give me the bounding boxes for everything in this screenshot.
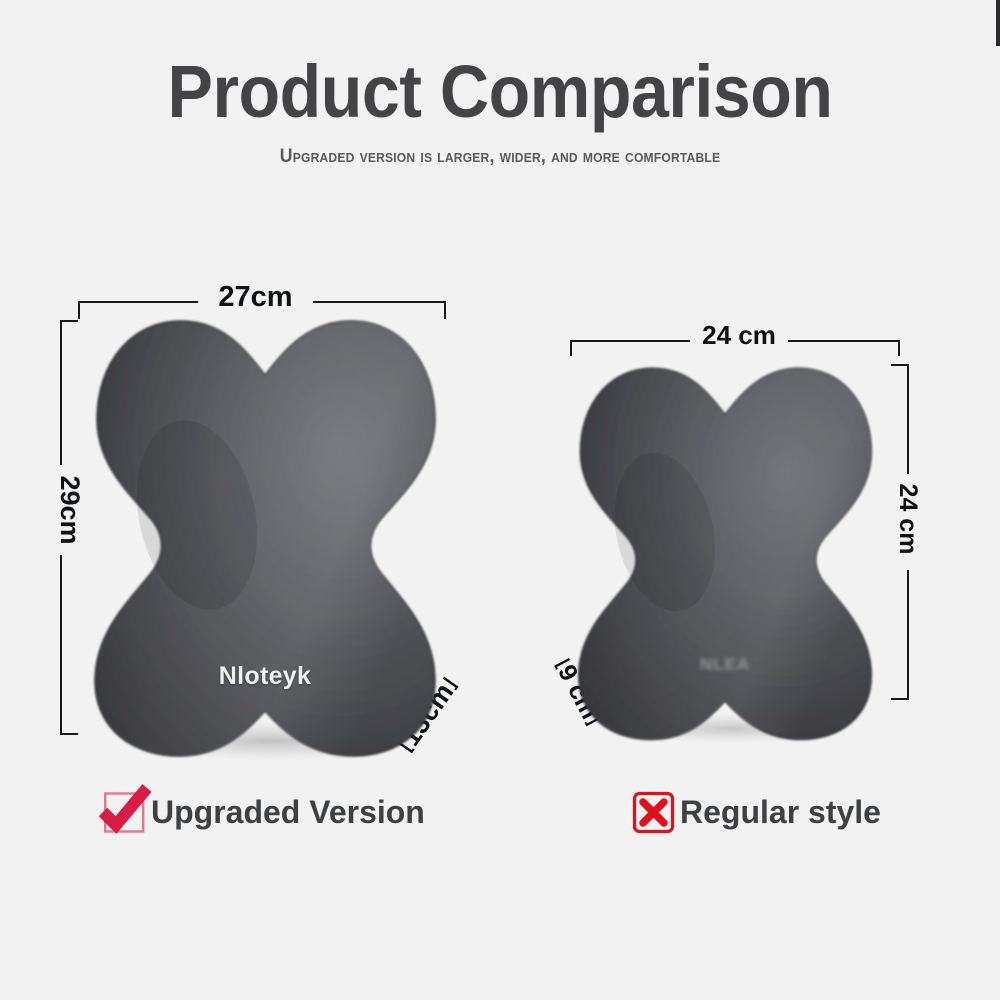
edge-artifact: [996, 0, 1000, 46]
cushion-image-upgraded: Nloteyk: [85, 315, 445, 760]
height-dimension-tick-end: [891, 698, 909, 700]
height-dimension-line-bottom-segment: [907, 570, 909, 700]
width-dimension-line-right-segment: [313, 301, 446, 303]
cushion-shape-regular: [570, 363, 880, 743]
verdict-regular: Regular style: [632, 790, 881, 834]
verdict-upgraded: Upgraded Version: [103, 790, 425, 834]
width-dimension-line-left-segment: [570, 340, 690, 342]
page-subtitle: Upgraded version is larger, wider, and m…: [35, 145, 965, 169]
height-dimension-line-top-segment: [60, 320, 62, 465]
product-comparison-canvas: Product Comparison Upgraded version is l…: [0, 0, 1000, 1000]
cushion-shape-upgraded: [85, 315, 445, 760]
product-upgraded: 27cm 29cm ⌊13cm⌋: [60, 275, 490, 775]
verdict-label-regular: Regular style: [680, 794, 881, 830]
cross-icon: [632, 790, 676, 834]
width-dimension-line-right-segment: [788, 340, 900, 342]
verdict-label-upgraded: Upgraded Version: [151, 794, 425, 830]
cross-mark-container: [632, 790, 676, 834]
check-mark-container: [103, 790, 147, 834]
width-dimension-line-left-segment: [78, 301, 198, 303]
cross-icon-x: [643, 802, 664, 823]
cushion-image-regular: NLEA: [570, 363, 880, 743]
height-dimension-tick-start: [60, 320, 78, 322]
product-regular: 24 cm 24 cm ⌊9 cm⌋: [545, 318, 945, 748]
width-dimension-label: 24 cm: [690, 321, 788, 350]
height-dimension-label: 29cm: [55, 455, 85, 565]
height-dimension-label: 24 cm: [894, 469, 922, 569]
width-dimension-label: 27cm: [198, 281, 313, 313]
width-dimension-tick-start: [78, 301, 80, 319]
height-dimension-line-top-segment: [907, 364, 909, 474]
height-dimension-line-bottom-segment: [60, 555, 62, 735]
width-dimension-tick-start: [570, 340, 572, 356]
height-dimension-tick-end: [60, 733, 78, 735]
page-title: Product Comparison: [40, 52, 960, 132]
height-dimension-tick-start: [891, 364, 909, 366]
width-dimension-tick-end: [898, 340, 900, 356]
check-icon: [103, 790, 147, 834]
